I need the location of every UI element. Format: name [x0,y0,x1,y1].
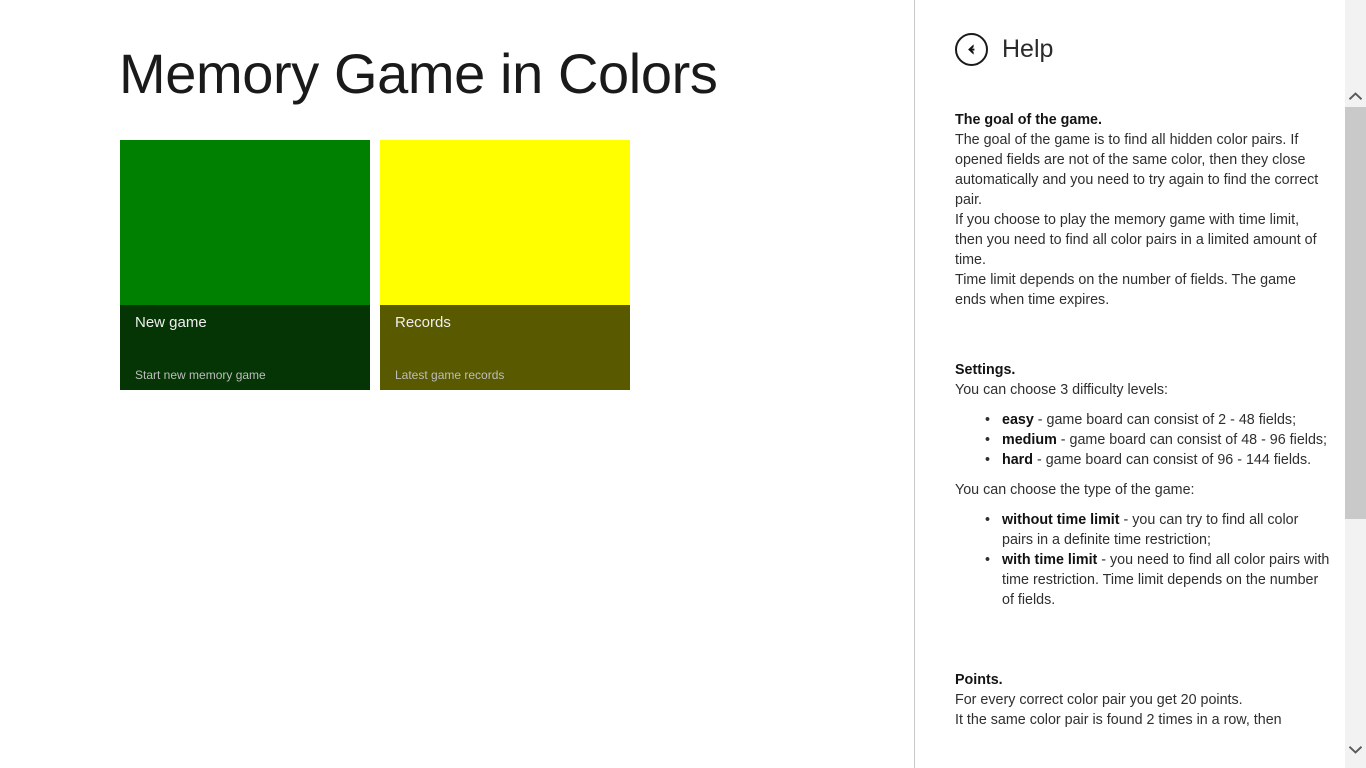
help-paragraph-type-intro: You can choose the type of the game: [955,480,1330,500]
list-item: without time limit - you can try to find… [985,510,1330,550]
help-heading-settings: Settings. [955,360,1330,380]
help-heading-points: Points. [955,670,1330,690]
app-root: Memory Game in Colors New game Start new… [0,0,1366,768]
help-scrollbar[interactable] [1345,0,1366,768]
help-section-spacer [955,620,1330,670]
tile-records-color-block [380,140,630,305]
list-item-desc: - game board can consist of 2 - 48 field… [1034,412,1296,428]
tile-records-caption-area: Records Latest game records [380,305,630,390]
list-item-term: medium [1002,432,1057,448]
help-list-game-type: without time limit - you can try to find… [955,510,1330,610]
list-item-term: hard [1002,452,1033,468]
help-header: Help [955,33,1053,66]
help-paragraph-goal-2: If you choose to play the memory game wi… [955,210,1330,270]
list-item: easy - game board can consist of 2 - 48 … [985,410,1330,430]
help-pane: Help The goal of the game. The goal of t… [915,0,1366,768]
tile-new-game-caption-area: New game Start new memory game [120,305,370,390]
help-list-difficulty: easy - game board can consist of 2 - 48 … [955,410,1330,470]
list-item: hard - game board can consist of 96 - 14… [985,450,1330,470]
list-item-desc: - game board can consist of 48 - 96 fiel… [1057,432,1327,448]
tile-records-label: Records [395,314,451,331]
chevron-down-icon[interactable] [1345,739,1366,760]
tile-new-game-label: New game [135,314,207,331]
scrollbar-track[interactable] [1345,107,1366,747]
tile-records-subtitle: Latest game records [395,368,504,382]
chevron-up-icon[interactable] [1345,86,1366,107]
list-item-term: without time limit [1002,512,1120,528]
help-heading-goal: The goal of the game. [955,110,1330,130]
page-title: Memory Game in Colors [119,46,717,102]
help-paragraph-goal-1: The goal of the game is to find all hidd… [955,130,1330,210]
help-paragraph-settings-intro: You can choose 3 difficulty levels: [955,380,1330,400]
help-paragraph-goal-3: Time limit depends on the number of fiel… [955,270,1330,310]
list-item-term: with time limit [1002,552,1097,568]
help-paragraph-points-1: For every correct color pair you get 20 … [955,690,1330,710]
scrollbar-thumb[interactable] [1345,107,1366,519]
list-item: with time limit - you need to find all c… [985,550,1330,610]
help-section-spacer [955,310,1330,360]
tile-records[interactable]: Records Latest game records [380,140,630,390]
help-content: The goal of the game. The goal of the ga… [955,110,1330,768]
list-item: medium - game board can consist of 48 - … [985,430,1330,450]
main-pane: Memory Game in Colors New game Start new… [0,0,914,768]
tile-new-game-subtitle: Start new memory game [135,368,266,382]
tile-new-game[interactable]: New game Start new memory game [120,140,370,390]
list-item-term: easy [1002,412,1034,428]
tile-grid: New game Start new memory game Records L… [120,140,630,390]
tile-new-game-color-block [120,140,370,305]
help-title: Help [1002,37,1053,62]
back-arrow-circle-icon[interactable] [955,33,988,66]
list-item-desc: - game board can consist of 96 - 144 fie… [1033,452,1311,468]
help-paragraph-points-2: It the same color pair is found 2 times … [955,710,1330,730]
